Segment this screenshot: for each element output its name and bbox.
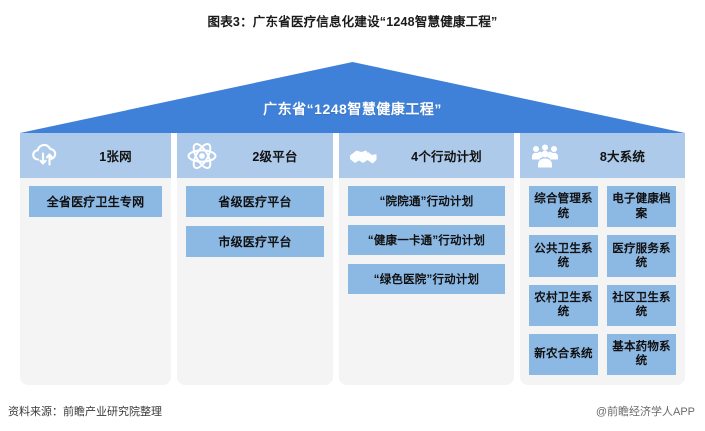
column-two-platforms[interactable]: 2级平台 省级医疗平台 市级医疗平台 <box>177 133 333 385</box>
columns-container: 1张网 全省医疗卫生专网 2级平台 省级医疗平台 <box>20 133 685 385</box>
column-three-label: 4个行动计划 <box>387 146 506 165</box>
column-four-label: 8大系统 <box>568 146 677 165</box>
column-one-header: 1张网 <box>20 133 171 178</box>
list-item[interactable]: 电子健康档案 <box>607 186 676 227</box>
list-item[interactable]: “健康一卡通”行动计划 <box>348 225 505 255</box>
list-item[interactable]: 医疗服务系统 <box>607 235 676 276</box>
systems-grid: 综合管理系统 电子健康档案 公共卫生系统 医疗服务系统 农村卫生系统 社区卫生系… <box>520 178 685 385</box>
list-item[interactable]: 省级医疗平台 <box>186 186 324 217</box>
column-three-header: 4个行动计划 <box>339 133 514 178</box>
list-item[interactable]: “院院通”行动计划 <box>348 186 505 216</box>
list-item[interactable]: 综合管理系统 <box>529 186 598 227</box>
list-item[interactable]: 全省医疗卫生专网 <box>29 186 162 217</box>
list-item[interactable]: 农村卫生系统 <box>529 285 598 326</box>
watermark: @前瞻经济学人APP <box>596 403 695 419</box>
column-one-label: 1张网 <box>68 146 163 165</box>
column-four-systems[interactable]: 8大系统 综合管理系统 电子健康档案 公共卫生系统 医疗服务系统 农村卫生系统 … <box>520 133 685 385</box>
list-item[interactable]: 公共卫生系统 <box>529 235 598 276</box>
column-three-action-plans[interactable]: 4个行动计划 “院院通”行动计划 “健康一卡通”行动计划 “绿色医院”行动计划 <box>339 133 514 385</box>
page-title: 图表3：广东省医疗信息化建设“1248智慧健康工程” <box>0 11 705 30</box>
cloud-sync-icon <box>28 139 62 173</box>
list-item[interactable]: 社区卫生系统 <box>607 285 676 326</box>
column-three-body: “院院通”行动计划 “健康一卡通”行动计划 “绿色医院”行动计划 <box>339 178 514 385</box>
list-item[interactable]: 新农合系统 <box>529 334 598 375</box>
column-one-network[interactable]: 1张网 全省医疗卫生专网 <box>20 133 171 385</box>
column-one-body: 全省医疗卫生专网 <box>20 178 171 385</box>
infographic-page: 图表3：广东省医疗信息化建设“1248智慧健康工程” 广东省“1248智慧健康工… <box>0 0 705 431</box>
column-two-body: 省级医疗平台 市级医疗平台 <box>177 178 333 385</box>
list-item[interactable]: 基本药物系统 <box>607 334 676 375</box>
column-two-label: 2级平台 <box>225 146 325 165</box>
roof-banner: 广东省“1248智慧健康工程” <box>20 62 685 133</box>
list-item[interactable]: 市级医疗平台 <box>186 226 324 257</box>
atom-icon <box>185 139 219 173</box>
list-item[interactable]: “绿色医院”行动计划 <box>348 264 505 294</box>
column-four-header: 8大系统 <box>520 133 685 178</box>
handshake-icon <box>347 139 381 173</box>
roof-banner-label: 广东省“1248智慧健康工程” <box>20 99 685 119</box>
source-note: 资料来源：前瞻产业研究院整理 <box>8 403 162 419</box>
people-group-icon <box>528 139 562 173</box>
column-two-header: 2级平台 <box>177 133 333 178</box>
